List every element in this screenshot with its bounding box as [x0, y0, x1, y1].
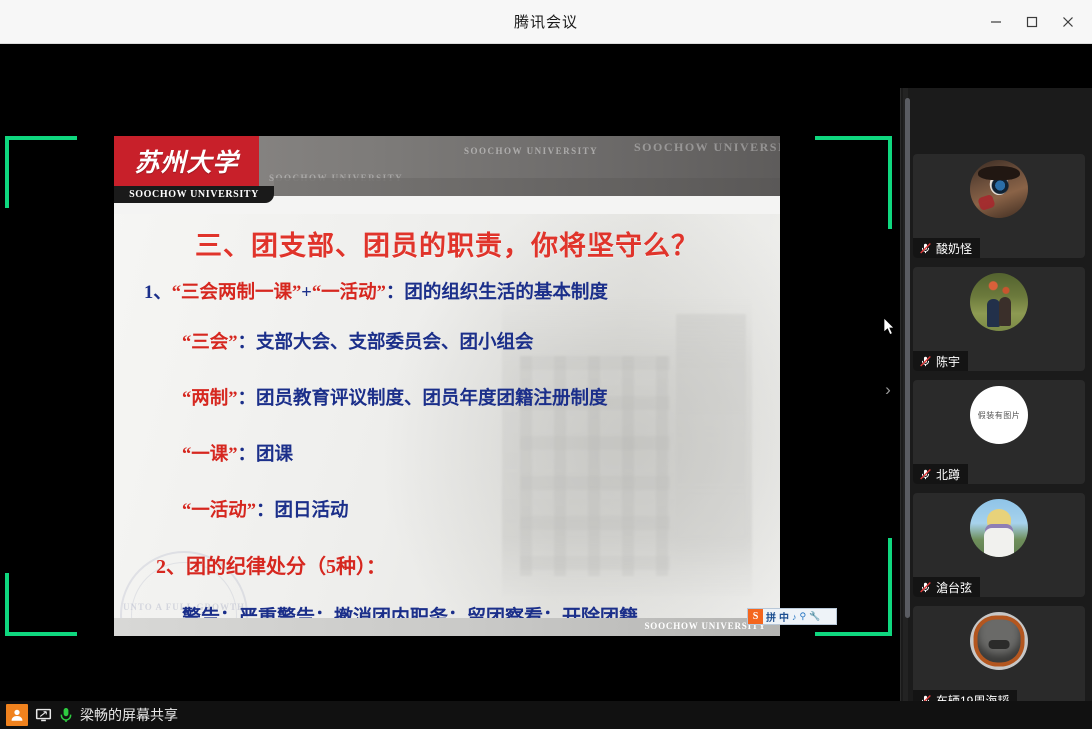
slide-title: 三、团支部、团员的职责，你将坚守么？	[114, 224, 780, 263]
avatar: 假装有图片	[970, 386, 1028, 444]
participant-tile[interactable]: 陈宇	[913, 267, 1085, 371]
screen-share-status-bar: 梁畅的屏幕共享	[0, 701, 1092, 729]
screen-share-icon	[35, 707, 52, 723]
slide-line-3: “两制”：团员教育评议制度、团员年度团籍注册制度	[182, 384, 608, 410]
line1-number: 1、	[144, 283, 172, 303]
participant-tile[interactable]: 酸奶怪	[913, 154, 1085, 258]
window-controls	[978, 0, 1086, 44]
mouse-cursor	[884, 318, 896, 341]
participant-tile[interactable]: 假装有图片 北蹲	[913, 380, 1085, 484]
participant-name: 酸奶怪	[936, 240, 972, 257]
mic-muted-icon	[919, 355, 932, 368]
panel-scrollbar-thumb[interactable]	[905, 98, 910, 618]
slide-footer-band: SOOCHOW UNIVERSITY	[114, 618, 780, 636]
shared-screen-slide[interactable]: SOOCHOW UNIVERSITY SOOCHOW UNIVERSITY SO…	[114, 136, 780, 636]
ime-lang-label[interactable]: 中	[779, 609, 789, 624]
soochow-logo: 苏州大学	[114, 136, 259, 186]
header-watermark-1: SOOCHOW UNIVERSITY	[464, 146, 598, 156]
avatar-placeholder-text: 假装有图片	[978, 410, 1021, 421]
window-title: 腾讯会议	[514, 11, 578, 32]
avatar	[970, 160, 1028, 218]
line2-rest: ：支部大会、支部委员会、团小组会	[238, 333, 534, 353]
campus-building-photo	[502, 296, 752, 596]
line2-term: “三会”	[182, 333, 238, 353]
moon-icon[interactable]: ♪	[792, 612, 797, 622]
participant-name-badge: 滄台弦	[913, 577, 980, 597]
participant-name-badge: 陈宇	[913, 351, 968, 371]
slide-line-5: “一活动”：团日活动	[182, 496, 349, 522]
line1-term1: “三会两制一课”	[172, 283, 302, 303]
mic-muted-icon	[919, 242, 932, 255]
slide-line-4: “一课”：团课	[182, 440, 293, 466]
person-icon	[6, 704, 28, 726]
panel-scrollbar-track[interactable]	[903, 88, 908, 729]
avatar	[970, 612, 1028, 670]
slide-line-1: 1、“三会两制一课”+“一活动”：团的组织生活的基本制度	[144, 278, 608, 304]
mic-muted-icon	[919, 581, 932, 594]
line1-rest: ：团的组织生活的基本制度	[386, 283, 608, 303]
soochow-logo-en: SOOCHOW UNIVERSITY	[114, 186, 274, 203]
avatar	[970, 273, 1028, 331]
wrench-icon[interactable]: 🔧	[809, 611, 820, 622]
discipline-heading: 2、团的纪律处分（5种）：	[156, 550, 386, 579]
minimize-icon[interactable]	[978, 7, 1014, 37]
tencent-meeting-window: 腾讯会议 SOOCHOW UNIVERSITY SOOCHOW UNIVERSI…	[0, 0, 1092, 729]
keyboard-icon[interactable]: ⚲	[800, 611, 807, 622]
line3-term: “两制”	[182, 389, 238, 409]
line1-plus: +	[301, 283, 312, 303]
mic-muted-icon	[919, 468, 932, 481]
microphone-icon	[59, 707, 73, 723]
slide-line-2: “三会”：支部大会、支部委员会、团小组会	[182, 328, 534, 354]
participant-name-badge: 北蹲	[913, 464, 968, 484]
line5-rest: ：团日活动	[256, 501, 349, 521]
participant-name-badge: 酸奶怪	[913, 238, 980, 258]
line4-rest: ：团课	[238, 445, 294, 465]
line4-term: “一课”	[182, 445, 238, 465]
participant-name: 陈宇	[936, 353, 960, 370]
line5-term: “一活动”	[182, 501, 256, 521]
participant-tile[interactable]: 滄台弦	[913, 493, 1085, 597]
close-icon[interactable]	[1050, 7, 1086, 37]
sogou-logo-icon[interactable]: S	[748, 609, 763, 624]
participant-name: 滄台弦	[936, 579, 972, 596]
meeting-stage: SOOCHOW UNIVERSITY SOOCHOW UNIVERSITY SO…	[0, 44, 1092, 701]
chevron-right-icon[interactable]: ›	[880, 376, 896, 404]
participant-name: 北蹲	[936, 466, 960, 483]
share-status-text: 梁畅的屏幕共享	[80, 705, 178, 725]
sogou-ime-toolbar[interactable]: S 拼 中 ♪ ⚲ 🔧	[747, 608, 837, 625]
participant-panel[interactable]: 酸奶怪 陈宇 假装有图片	[900, 88, 1092, 729]
participant-tile[interactable]: 车辆19周海韬	[913, 606, 1085, 710]
header-watermark-3: SOOCHOW UNIVERSITY	[634, 140, 780, 155]
avatar	[970, 499, 1028, 557]
ime-mode-label[interactable]: 拼	[766, 609, 776, 624]
title-bar: 腾讯会议	[0, 0, 1092, 44]
header-watermark-2: SOOCHOW UNIVERSITY	[269, 173, 403, 183]
soochow-logo-cn: 苏州大学	[134, 143, 238, 179]
maximize-icon[interactable]	[1014, 7, 1050, 37]
line1-term2: “一活动”	[312, 283, 386, 303]
line3-rest: ：团员教育评议制度、团员年度团籍注册制度	[238, 389, 608, 409]
